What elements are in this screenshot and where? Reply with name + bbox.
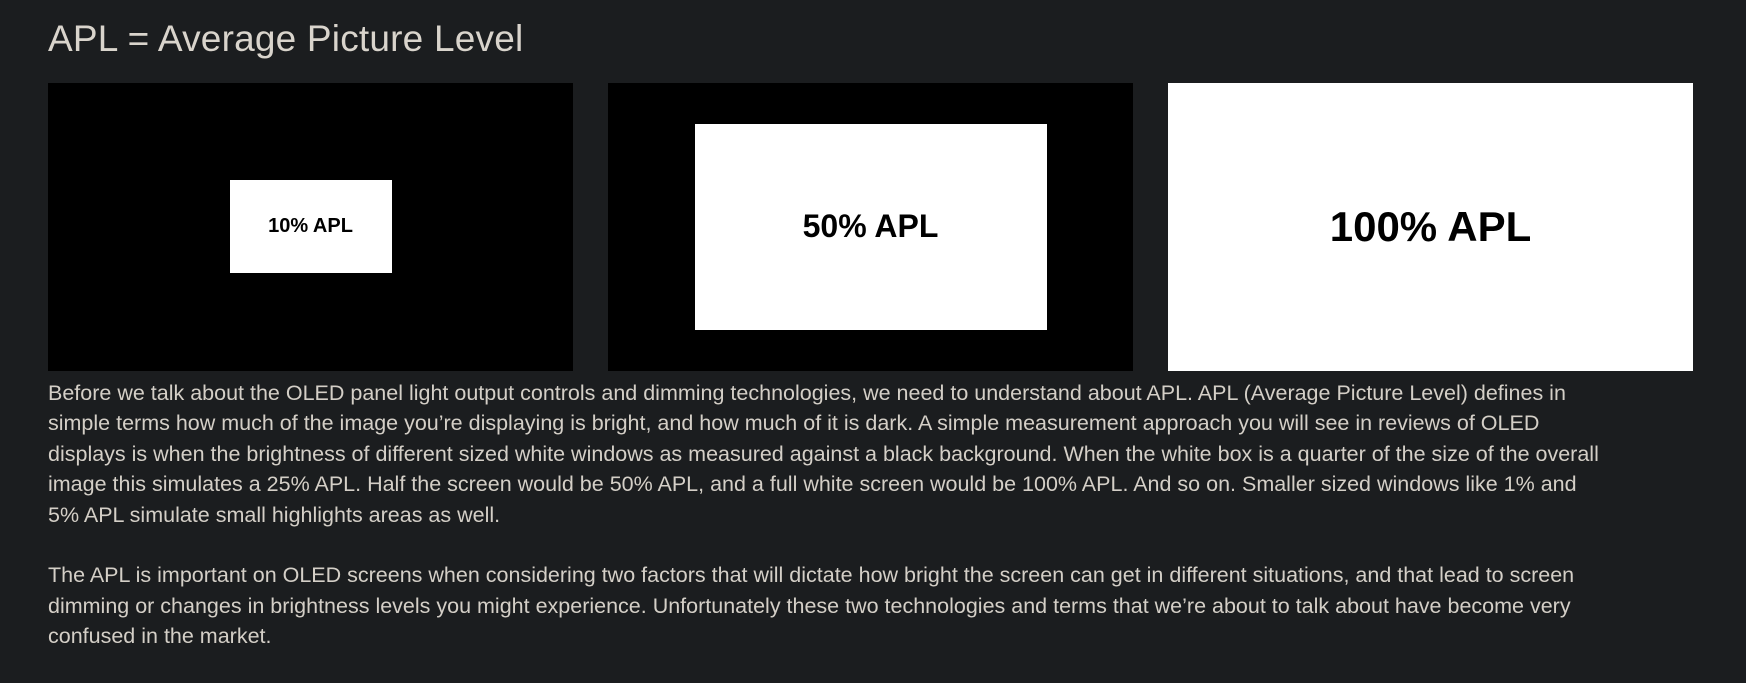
apl-100-label: 100% APL bbox=[1330, 203, 1532, 251]
page-title: APL = Average Picture Level bbox=[48, 0, 1698, 61]
apl-50-window: 50% APL bbox=[695, 124, 1047, 330]
paragraph-apl-definition: Before we talk about the OLED panel ligh… bbox=[48, 378, 1608, 531]
apl-10-label: 10% APL bbox=[268, 215, 353, 238]
apl-figure-row: 10% APL 50% APL 100% APL bbox=[48, 83, 1698, 371]
apl-10-panel: 10% APL bbox=[48, 83, 573, 371]
paragraph-apl-importance: The APL is important on OLED screens whe… bbox=[48, 560, 1608, 652]
article-page: APL = Average Picture Level 10% APL 50% … bbox=[0, 0, 1746, 683]
apl-50-panel: 50% APL bbox=[608, 83, 1133, 371]
apl-10-window: 10% APL bbox=[230, 180, 392, 273]
apl-50-label: 50% APL bbox=[803, 208, 939, 245]
article-content: APL = Average Picture Level 10% APL 50% … bbox=[48, 0, 1698, 652]
apl-100-panel: 100% APL bbox=[1168, 83, 1693, 371]
apl-100-window: 100% APL bbox=[1168, 83, 1693, 371]
